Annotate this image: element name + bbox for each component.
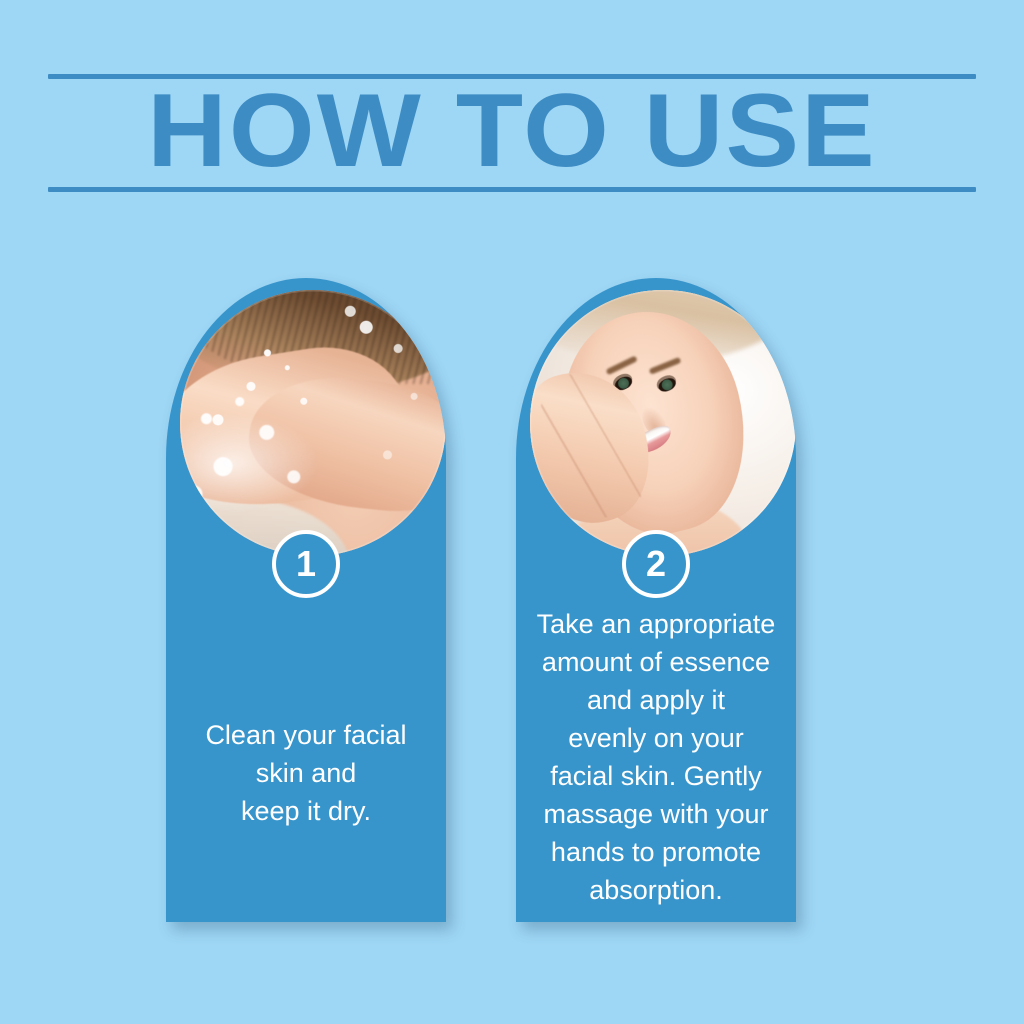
step-1-number-badge: 1 (272, 530, 340, 598)
step-card-2[interactable]: 2 Take an appropriate amount of essence … (516, 278, 796, 922)
header: HOW TO USE (0, 0, 1024, 210)
step-1-text: Clean your facial skin and keep it dry. (166, 716, 446, 830)
infographic-canvas: HOW TO USE 1 Clean your facial skin and … (0, 0, 1024, 1024)
step-1-photo (180, 290, 446, 556)
page-title: HOW TO USE (0, 79, 1024, 183)
step-card-1[interactable]: 1 Clean your facial skin and keep it dry… (166, 278, 446, 922)
title-rule-bottom (48, 187, 976, 192)
step-2-text: Take an appropriate amount of essence an… (516, 605, 796, 909)
step-2-photo (530, 290, 796, 556)
step-2-number-badge: 2 (622, 530, 690, 598)
